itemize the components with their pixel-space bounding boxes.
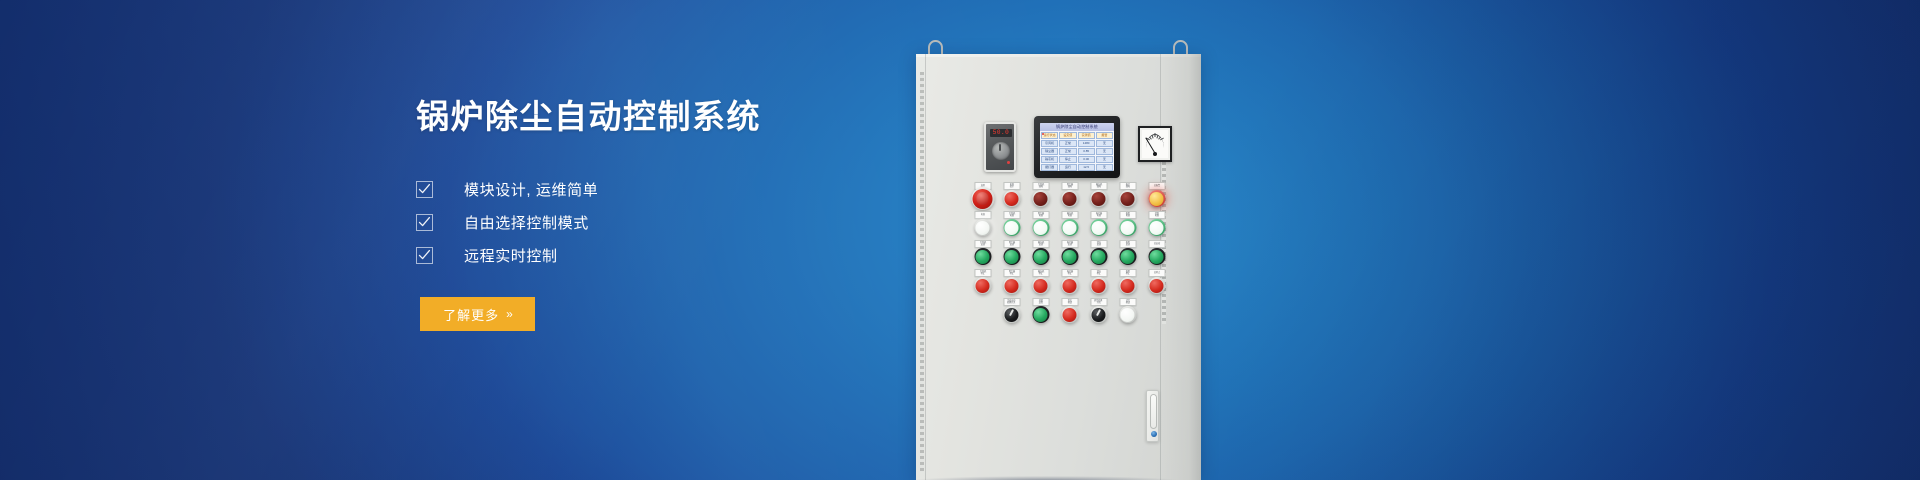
hmi-cell: 引风机 bbox=[1041, 140, 1058, 147]
panel-button[interactable]: 总停止 bbox=[1142, 269, 1171, 298]
hero-banner: 锅炉除尘自动控制系统 模块设计, 运维简单自由选择控制模式远程实时控制 了解更多… bbox=[0, 0, 1920, 480]
panel-button[interactable]: 电源 bbox=[968, 211, 997, 240]
indicator-lamp[interactable] bbox=[1090, 219, 1107, 236]
row-green-start: 引风机启动除尘器启动输灰机启动振打器启动清灰启动备用启动总启动 bbox=[968, 240, 1171, 269]
hmi-cell: 正常 bbox=[1059, 148, 1076, 155]
panel-button[interactable]: 就地远程 bbox=[1026, 298, 1055, 327]
panel-button[interactable]: 备用电源 bbox=[1113, 211, 1142, 240]
speed-controller-value: 50.0 bbox=[993, 130, 1009, 136]
indicator-lamp[interactable] bbox=[1003, 190, 1020, 207]
indicator-lamp[interactable] bbox=[1003, 248, 1020, 265]
hmi-header-cell: 实测值 bbox=[1078, 132, 1095, 139]
button-label-tag: 输灰机启动 bbox=[1032, 240, 1049, 248]
indicator-lamp[interactable] bbox=[974, 277, 991, 294]
cabinet-top-edge bbox=[916, 54, 1201, 57]
indicator-lamp[interactable] bbox=[1148, 277, 1165, 294]
row-emergency-red: 急停电源指示引风机故障除尘器故障输灰机故障振打故障总报警 bbox=[968, 182, 1171, 211]
indicator-lamp[interactable] bbox=[1003, 306, 1020, 323]
hmi-row: 振打器运行12.5无 bbox=[1041, 164, 1113, 171]
indicator-lamp[interactable] bbox=[1003, 219, 1020, 236]
indicator-lamp[interactable] bbox=[974, 248, 991, 265]
button-label-tag: 控制电源 bbox=[1148, 211, 1165, 219]
hmi-cell: 1480 bbox=[1078, 140, 1095, 147]
button-label-line: 按钮 bbox=[1125, 302, 1129, 304]
cabinet-left-seam bbox=[925, 54, 926, 480]
hmi-cell: 正常 bbox=[1059, 140, 1076, 147]
button-label-tag: 清灰启动 bbox=[1090, 240, 1107, 248]
indicator-lamp[interactable] bbox=[1032, 248, 1049, 265]
ammeter-hub bbox=[1153, 152, 1157, 156]
button-label-tag: 清灰停止 bbox=[1090, 269, 1107, 277]
door-lock-cylinder-icon[interactable] bbox=[1151, 431, 1157, 437]
drive-status-led-icon bbox=[1007, 161, 1010, 164]
panel-button[interactable]: 备用停止 bbox=[1113, 269, 1142, 298]
indicator-lamp[interactable] bbox=[1090, 306, 1107, 323]
button-label-tag: 引风机电源 bbox=[1003, 211, 1020, 219]
hmi-touch-panel[interactable]: 锅炉除尘自动控制系统 运行状态设定值实测值报警引风机正常1480无除尘器正常0.… bbox=[1034, 116, 1120, 178]
button-label-line: 开关 bbox=[1096, 302, 1100, 304]
indicator-lamp[interactable] bbox=[1032, 190, 1049, 207]
panel-button[interactable]: 引风机电源 bbox=[997, 211, 1026, 240]
button-grid: 急停电源指示引风机故障除尘器故障输灰机故障振打故障总报警电源引风机电源除尘器电源… bbox=[968, 182, 1171, 327]
feature-item: 模块设计, 运维简单 bbox=[416, 173, 936, 206]
hmi-row: 除尘器正常0.85无 bbox=[1041, 148, 1113, 155]
panel-button[interactable]: 急停 bbox=[968, 182, 997, 211]
panel-button[interactable]: 消音转换开关 bbox=[1084, 298, 1113, 327]
cabinet-hinge-left bbox=[920, 72, 924, 472]
button-label-tag: 振打故障 bbox=[1119, 182, 1136, 190]
button-label-line: 故障 bbox=[1125, 186, 1129, 188]
feature-label: 自由选择控制模式 bbox=[464, 212, 589, 233]
panel-button[interactable]: 振打器停止 bbox=[1055, 269, 1084, 298]
panel-button[interactable]: 输灰机电源 bbox=[1055, 211, 1084, 240]
button-label-tag: 除尘器故障 bbox=[1061, 182, 1078, 190]
button-label-line: 指示 bbox=[1009, 186, 1013, 188]
panel-button[interactable]: 引风机停止 bbox=[968, 269, 997, 298]
check-icon bbox=[416, 247, 433, 264]
chevron-right-icon: » bbox=[506, 307, 512, 321]
indicator-lamp[interactable] bbox=[1090, 277, 1107, 294]
indicator-lamp[interactable] bbox=[1032, 219, 1049, 236]
indicator-lamp[interactable] bbox=[1061, 219, 1078, 236]
row-red-stop: 引风机停止除尘器停止输灰机停止振打器停止清灰停止备用停止总停止 bbox=[968, 269, 1171, 298]
hmi-cell: 0.00 bbox=[1078, 156, 1095, 163]
analog-ammeter bbox=[1138, 126, 1172, 162]
hmi-cell: 运行 bbox=[1059, 164, 1076, 171]
panel-button[interactable]: 振打器电源 bbox=[1084, 211, 1113, 240]
button-label-line: 故障 bbox=[1038, 186, 1042, 188]
indicator-lamp[interactable] bbox=[1119, 219, 1136, 236]
button-label-line: 远程 bbox=[1038, 302, 1042, 304]
indicator-lamp[interactable] bbox=[1061, 190, 1078, 207]
button-label-line: 故障 bbox=[1096, 186, 1100, 188]
emergency-stop-button[interactable] bbox=[971, 187, 994, 210]
panel-button[interactable]: 引风机故障 bbox=[1026, 182, 1055, 211]
button-label-line: 按钮 bbox=[1067, 302, 1071, 304]
panel-button[interactable]: 手动自动转换开关 bbox=[997, 298, 1026, 327]
button-label-tag: 除尘器电源 bbox=[1032, 211, 1049, 219]
indicator-lamp[interactable] bbox=[1148, 219, 1165, 236]
row-white-indicators: 电源引风机电源除尘器电源输灰机电源振打器电源备用电源控制电源 bbox=[968, 211, 1171, 240]
banner-content: 锅炉除尘自动控制系统 模块设计, 运维简单自由选择控制模式远程实时控制 了解更多… bbox=[416, 100, 936, 331]
hmi-cell: 输灰机 bbox=[1041, 156, 1058, 163]
button-label-tag: 备用启动 bbox=[1119, 240, 1136, 248]
hmi-header-cell: 设定值 bbox=[1059, 132, 1076, 139]
hmi-cell: 0.85 bbox=[1078, 148, 1095, 155]
button-label-line: 启动 bbox=[1125, 244, 1129, 246]
button-label-tag: 电源指示 bbox=[1003, 182, 1020, 190]
button-label-line: 启动 bbox=[980, 244, 984, 246]
panel-button[interactable]: 引风机启动 bbox=[968, 240, 997, 269]
panel-button[interactable]: 试灯按钮 bbox=[1113, 298, 1142, 327]
button-label-tag: 振打器停止 bbox=[1061, 269, 1078, 277]
feature-label: 模块设计, 运维简单 bbox=[464, 179, 598, 200]
button-label-tag: 输灰机故障 bbox=[1090, 182, 1107, 190]
control-cabinet-photo: 50.0 锅炉除尘自动控制系统 运行状态设定值实测值报警引风机正常1480无除尘… bbox=[900, 40, 1230, 480]
button-label-line: 电源 bbox=[980, 214, 984, 216]
button-label-line: 总报警 bbox=[1153, 185, 1159, 187]
panel-button[interactable]: 电源指示 bbox=[997, 182, 1026, 211]
page-title: 锅炉除尘自动控制系统 bbox=[416, 100, 936, 133]
door-handle-lock[interactable] bbox=[1146, 390, 1159, 442]
button-label-tag: 总启动 bbox=[1148, 240, 1165, 248]
ammeter-face bbox=[1142, 130, 1168, 158]
door-handle-bar[interactable] bbox=[1150, 394, 1157, 429]
indicator-lamp[interactable] bbox=[1119, 190, 1136, 207]
indicator-lamp[interactable] bbox=[1148, 190, 1165, 207]
panel-button[interactable]: 总启动 bbox=[1142, 240, 1171, 269]
button-label-line: 电源 bbox=[1154, 215, 1158, 217]
panel-button[interactable]: 输灰机启动 bbox=[1026, 240, 1055, 269]
button-label-line: 总启动 bbox=[1153, 243, 1159, 245]
panel-button[interactable]: 控制电源 bbox=[1142, 211, 1171, 240]
hmi-cell: 无 bbox=[1096, 164, 1113, 171]
hmi-power-led-icon bbox=[1042, 133, 1044, 135]
hmi-header-cell: 报警 bbox=[1096, 132, 1113, 139]
hmi-cell: 无 bbox=[1096, 156, 1113, 163]
button-label-tag: 复位按钮 bbox=[1061, 298, 1078, 306]
row-selectors: 手动自动转换开关就地远程复位按钮消音转换开关试灯按钮 bbox=[997, 298, 1171, 327]
hmi-row: 运行状态设定值实测值报警 bbox=[1041, 132, 1113, 139]
indicator-lamp[interactable] bbox=[1032, 306, 1049, 323]
button-label-tag: 手动自动转换开关 bbox=[1003, 298, 1020, 306]
hmi-cell: 除尘器 bbox=[1041, 148, 1058, 155]
ammeter-tick bbox=[1160, 138, 1164, 141]
button-label-tag: 除尘器启动 bbox=[1003, 240, 1020, 248]
hmi-cell: 振打器 bbox=[1041, 164, 1058, 171]
hmi-cell: 停止 bbox=[1059, 156, 1076, 163]
button-label-line: 启动 bbox=[1067, 244, 1071, 246]
button-label-line: 故障 bbox=[1067, 186, 1071, 188]
panel-button[interactable]: 振打器启动 bbox=[1055, 240, 1084, 269]
button-label-line: 电源 bbox=[1009, 215, 1013, 217]
button-label-tag: 备用电源 bbox=[1119, 211, 1136, 219]
button-label-line: 启动 bbox=[1009, 244, 1013, 246]
speed-controller-display: 50.0 bbox=[990, 129, 1012, 137]
check-icon bbox=[416, 214, 433, 231]
button-label-tag: 振打器启动 bbox=[1061, 240, 1078, 248]
button-label-line: 停止 bbox=[1009, 273, 1013, 275]
indicator-lamp[interactable] bbox=[1003, 277, 1020, 294]
ammeter-tick bbox=[1152, 135, 1154, 138]
button-label-line: 启动 bbox=[1096, 244, 1100, 246]
button-label-line: 电源 bbox=[1067, 215, 1071, 217]
button-label-tag: 电源 bbox=[974, 211, 991, 219]
panel-button[interactable]: 总报警 bbox=[1142, 182, 1171, 211]
indicator-lamp[interactable] bbox=[1032, 277, 1049, 294]
panel-button[interactable]: 除尘器停止 bbox=[997, 269, 1026, 298]
button-label-tag: 试灯按钮 bbox=[1119, 298, 1136, 306]
cabinet-ground-shadow bbox=[910, 476, 1180, 480]
button-label-tag: 振打器电源 bbox=[1090, 211, 1107, 219]
panel-button[interactable]: 除尘器电源 bbox=[1026, 211, 1055, 240]
button-label-line: 停止 bbox=[980, 273, 984, 275]
button-label-tag: 引风机停止 bbox=[974, 269, 991, 277]
hmi-row: 引风机正常1480无 bbox=[1041, 140, 1113, 147]
button-label-line: 电源 bbox=[1096, 215, 1100, 217]
panel-button[interactable]: 振打故障 bbox=[1113, 182, 1142, 211]
hmi-cell: 12.5 bbox=[1078, 164, 1095, 171]
ammeter-tick bbox=[1155, 133, 1156, 137]
button-label-tag: 备用停止 bbox=[1119, 269, 1136, 277]
button-label-line: 停止 bbox=[1096, 273, 1100, 275]
hmi-title: 锅炉除尘自动控制系统 bbox=[1040, 123, 1114, 131]
hmi-cell: 无 bbox=[1096, 148, 1113, 155]
button-label-line: 停止 bbox=[1125, 273, 1129, 275]
indicator-lamp[interactable] bbox=[1119, 277, 1136, 294]
button-label-line: 停止 bbox=[1038, 273, 1042, 275]
indicator-lamp[interactable] bbox=[1090, 190, 1107, 207]
hmi-row: 输灰机停止0.00无 bbox=[1041, 156, 1113, 163]
hmi-screen[interactable]: 锅炉除尘自动控制系统 运行状态设定值实测值报警引风机正常1480无除尘器正常0.… bbox=[1040, 123, 1114, 171]
hmi-data-grid: 运行状态设定值实测值报警引风机正常1480无除尘器正常0.85无输灰机停止0.0… bbox=[1040, 131, 1114, 171]
button-label-tag: 就地远程 bbox=[1032, 298, 1049, 306]
button-label-tag: 引风机故障 bbox=[1032, 182, 1049, 190]
button-label-tag: 总报警 bbox=[1148, 182, 1165, 190]
button-label-line: 总停止 bbox=[1153, 272, 1159, 274]
button-label-tag: 总停止 bbox=[1148, 269, 1165, 277]
panel-button[interactable]: 清灰启动 bbox=[1084, 240, 1113, 269]
panel-button[interactable]: 除尘器启动 bbox=[997, 240, 1026, 269]
panel-button[interactable]: 除尘器故障 bbox=[1055, 182, 1084, 211]
button-label-line: 停止 bbox=[1067, 273, 1071, 275]
panel-button[interactable]: 复位按钮 bbox=[1055, 298, 1084, 327]
indicator-lamp[interactable] bbox=[1119, 248, 1136, 265]
panel-button[interactable]: 备用启动 bbox=[1113, 240, 1142, 269]
button-label-tag: 除尘器停止 bbox=[1003, 269, 1020, 277]
indicator-lamp[interactable] bbox=[1061, 306, 1078, 323]
indicator-lamp[interactable] bbox=[1119, 306, 1136, 323]
button-label-line: 启动 bbox=[1038, 244, 1042, 246]
check-icon bbox=[416, 181, 433, 198]
indicator-lamp[interactable] bbox=[1061, 277, 1078, 294]
feature-list: 模块设计, 运维简单自由选择控制模式远程实时控制 bbox=[416, 173, 936, 272]
panel-button[interactable]: 输灰机故障 bbox=[1084, 182, 1113, 211]
button-label-tag: 消音转换开关 bbox=[1090, 298, 1107, 306]
panel-button[interactable]: 清灰停止 bbox=[1084, 269, 1113, 298]
button-label-tag: 输灰机停止 bbox=[1032, 269, 1049, 277]
hmi-cell: 无 bbox=[1096, 140, 1113, 147]
indicator-lamp[interactable] bbox=[1148, 248, 1165, 265]
indicator-lamp[interactable] bbox=[1061, 248, 1078, 265]
button-label-line: 电源 bbox=[1038, 215, 1042, 217]
indicator-lamp[interactable] bbox=[974, 219, 991, 236]
button-label-line: 转换开关 bbox=[1007, 302, 1015, 304]
button-label-tag: 输灰机电源 bbox=[1061, 211, 1078, 219]
learn-more-button[interactable]: 了解更多 » bbox=[420, 297, 535, 331]
button-label-tag: 引风机启动 bbox=[974, 240, 991, 248]
feature-item: 远程实时控制 bbox=[416, 239, 936, 272]
learn-more-label: 了解更多 bbox=[443, 305, 499, 324]
speed-controller-module[interactable]: 50.0 bbox=[984, 122, 1016, 172]
button-label-line: 电源 bbox=[1125, 215, 1129, 217]
feature-item: 自由选择控制模式 bbox=[416, 206, 936, 239]
cabinet-body: 50.0 锅炉除尘自动控制系统 运行状态设定值实测值报警引风机正常1480无除尘… bbox=[916, 54, 1201, 480]
feature-label: 远程实时控制 bbox=[464, 245, 558, 266]
panel-button[interactable]: 输灰机停止 bbox=[1026, 269, 1055, 298]
indicator-lamp[interactable] bbox=[1090, 248, 1107, 265]
speed-knob[interactable] bbox=[992, 142, 1010, 160]
